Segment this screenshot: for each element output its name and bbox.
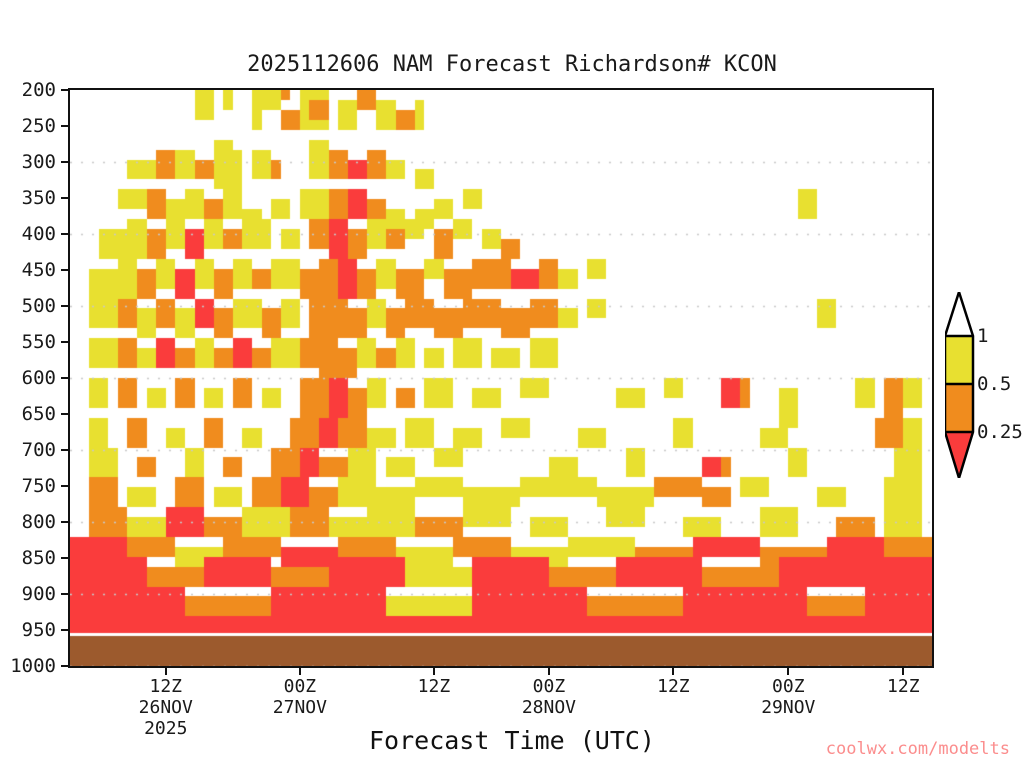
xtick-time: 12Z — [139, 676, 193, 697]
xtick-date: 29NOV — [761, 697, 815, 718]
xtick-time: 12Z — [887, 676, 920, 697]
colorbar-label-0p25: 0.25 — [977, 421, 1023, 443]
x-axis-tick-12Z: 12Z — [418, 676, 451, 697]
xtick-date: 26NOV — [139, 697, 193, 718]
x-axis-tick-12Z: 12Z — [887, 676, 920, 697]
xtick-time: 00Z — [761, 676, 815, 697]
colorbar-label-0p5: 0.5 — [977, 373, 1011, 395]
xtick-date: 27NOV — [273, 697, 327, 718]
colorbar-over-arrow-icon — [945, 292, 973, 336]
colorbar-svg — [945, 292, 975, 478]
x-axis-tick-00Z-27NOV: 00Z27NOV — [273, 676, 327, 718]
colorbar-band-yellow — [945, 336, 973, 384]
x-axis-tick-00Z-28NOV: 00Z28NOV — [522, 676, 576, 718]
colorbar-label-1: 1 — [977, 325, 988, 347]
xtick-time: 12Z — [657, 676, 690, 697]
colorbar-band-orange — [945, 384, 973, 432]
watermark: coolwx.com/modelts — [826, 739, 1010, 759]
x-axis-tick-12Z: 12Z — [657, 676, 690, 697]
xtick-date: 28NOV — [522, 697, 576, 718]
x-axis-tick-labels: 12Z26NOV202500Z27NOV12Z00Z28NOV12Z00Z29N… — [0, 0, 1024, 768]
xtick-time: 00Z — [273, 676, 327, 697]
chart-stage: 2025112606 NAM Forecast Richardson# KCON… — [0, 0, 1024, 768]
x-axis-tick-00Z-29NOV: 00Z29NOV — [761, 676, 815, 718]
xtick-time: 00Z — [522, 676, 576, 697]
colorbar-legend: 1 0.5 0.25 — [945, 292, 975, 478]
xtick-time: 12Z — [418, 676, 451, 697]
colorbar-under-arrow-icon — [945, 432, 973, 478]
